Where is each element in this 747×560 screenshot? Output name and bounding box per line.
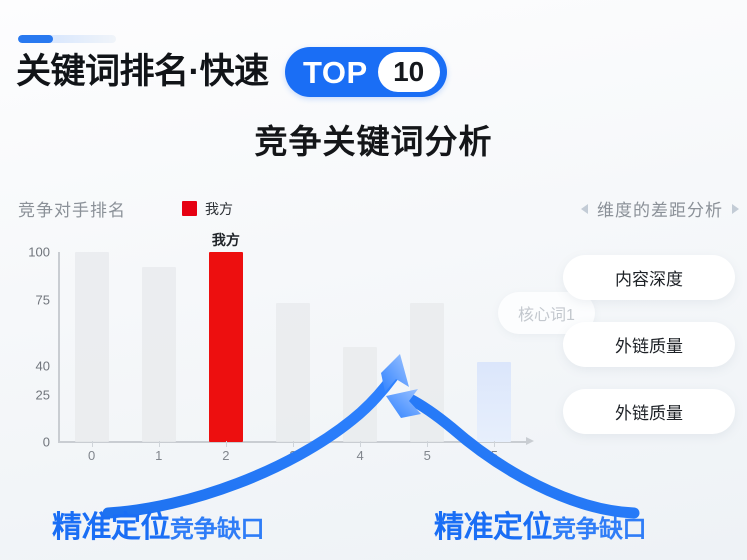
caption-right: 精准定位 竞争缺口	[434, 502, 646, 546]
y-axis-tick: 100	[28, 245, 50, 260]
headline-text: 关键词排名·快速	[16, 45, 269, 99]
x-axis-tick-mark	[427, 441, 428, 447]
top-rank-badge: TOP 10	[285, 47, 447, 97]
bar-competitor	[343, 347, 377, 442]
triangle-left-icon[interactable]	[581, 204, 588, 214]
x-axis-tick-mark	[360, 441, 361, 447]
triangle-right-icon[interactable]	[732, 204, 739, 214]
x-axis-tick: 3	[289, 448, 296, 463]
caption-strong: 精准定位	[434, 502, 552, 546]
mine-bar-label: 我方	[212, 230, 240, 250]
bar-competitor	[410, 303, 444, 442]
caption-sub: 竞争缺口	[552, 509, 646, 544]
x-axis-tick-mark	[293, 441, 294, 447]
dimension-card-list: 内容深度 外链质量 外链质量	[563, 255, 735, 434]
progress-bar	[18, 35, 116, 43]
chart-axis-title: 竞争对手排名	[18, 196, 126, 221]
y-axis-tick: 0	[43, 435, 50, 450]
x-axis-tick: 2	[222, 448, 229, 463]
bar-gap	[477, 362, 511, 442]
caption-sub: 竞争缺口	[170, 509, 264, 544]
page-title: 竞争关键词分析	[0, 115, 747, 163]
legend-swatch-icon	[182, 201, 197, 216]
x-axis-tick: 4	[357, 448, 364, 463]
x-axis-tick-mark	[159, 441, 160, 447]
x-axis-tick: 5	[491, 448, 498, 463]
dimension-card[interactable]: 外链质量	[563, 322, 735, 367]
dimension-card[interactable]: 外链质量	[563, 389, 735, 434]
bar-competitor	[276, 303, 310, 442]
caption-strong: 精准定位	[52, 502, 170, 546]
bar-competitor	[75, 252, 109, 442]
y-axis-tick: 25	[36, 387, 50, 402]
x-axis-labels: 0123455	[58, 448, 528, 470]
x-axis-tick-mark	[226, 441, 227, 447]
progress-bar-fill	[18, 35, 53, 43]
y-axis-labels: 1007540250	[14, 252, 50, 442]
x-axis-tick: 1	[155, 448, 162, 463]
dimension-card[interactable]: 内容深度	[563, 255, 735, 300]
dimension-panel-title: 维度的差距分析	[597, 196, 723, 221]
x-axis-tick: 0	[88, 448, 95, 463]
headline-row: 关键词排名·快速	[16, 45, 269, 99]
bar-mine	[209, 252, 243, 442]
x-axis-tick-mark	[92, 441, 93, 447]
bar-chart: 1007540250 我方 0123455	[14, 252, 534, 452]
x-axis-tick-mark	[494, 441, 495, 447]
bars-layer: 我方	[58, 252, 528, 442]
y-axis-tick: 40	[36, 359, 50, 374]
y-axis-tick: 75	[36, 292, 50, 307]
caption-left: 精准定位 竞争缺口	[52, 502, 264, 546]
bar-competitor	[142, 267, 176, 442]
legend-item-mine: 我方	[182, 199, 233, 219]
legend-label: 我方	[205, 199, 233, 219]
top-badge-label: TOP	[303, 57, 368, 88]
x-axis-tick: 5	[424, 448, 431, 463]
top-badge-count: 10	[378, 52, 440, 92]
dimension-panel-header: 维度的差距分析	[581, 196, 739, 221]
chart-header-row: 竞争对手排名 我方	[18, 196, 233, 221]
